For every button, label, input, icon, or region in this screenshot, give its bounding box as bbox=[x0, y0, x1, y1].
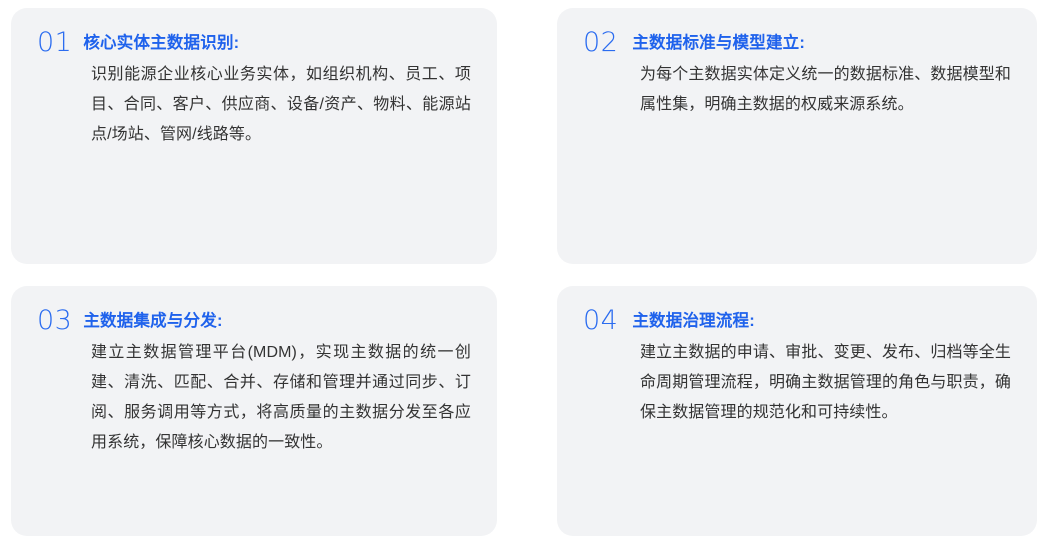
info-card-02: 02 主数据标准与模型建立: 为每个主数据实体定义统一的数据标准、数据模型和属性… bbox=[557, 8, 1037, 264]
card-header: 03 主数据集成与分发: bbox=[37, 308, 471, 334]
card-number-badge: 02 bbox=[583, 30, 618, 56]
card-title: 核心实体主数据识别: bbox=[83, 30, 471, 56]
card-title: 主数据标准与模型建立: bbox=[632, 30, 1011, 56]
card-body-text: 识别能源企业核心业务实体，如组织机构、员工、项目、合同、客户、供应商、设备/资产… bbox=[91, 60, 471, 150]
card-body-text: 建立主数据的申请、审批、变更、发布、归档等全生命周期管理流程，明确主数据管理的角… bbox=[640, 338, 1011, 428]
cards-grid: 01 核心实体主数据识别: 识别能源企业核心业务实体，如组织机构、员工、项目、合… bbox=[0, 0, 1053, 552]
card-number-badge: 04 bbox=[583, 308, 618, 334]
info-card-01: 01 核心实体主数据识别: 识别能源企业核心业务实体，如组织机构、员工、项目、合… bbox=[11, 8, 497, 264]
card-header: 01 核心实体主数据识别: bbox=[37, 30, 471, 56]
info-card-04: 04 主数据治理流程: 建立主数据的申请、审批、变更、发布、归档等全生命周期管理… bbox=[557, 286, 1037, 536]
card-header: 04 主数据治理流程: bbox=[583, 308, 1011, 334]
card-body-text: 为每个主数据实体定义统一的数据标准、数据模型和属性集，明确主数据的权威来源系统。 bbox=[640, 60, 1011, 120]
card-number-badge: 03 bbox=[37, 308, 72, 334]
info-card-03: 03 主数据集成与分发: 建立主数据管理平台(MDM)，实现主数据的统一创建、清… bbox=[11, 286, 497, 536]
card-body-text: 建立主数据管理平台(MDM)，实现主数据的统一创建、清洗、匹配、合并、存储和管理… bbox=[91, 338, 471, 458]
card-title: 主数据治理流程: bbox=[632, 308, 1011, 334]
card-header: 02 主数据标准与模型建立: bbox=[583, 30, 1011, 56]
card-title: 主数据集成与分发: bbox=[83, 308, 471, 334]
card-number-badge: 01 bbox=[37, 30, 72, 56]
